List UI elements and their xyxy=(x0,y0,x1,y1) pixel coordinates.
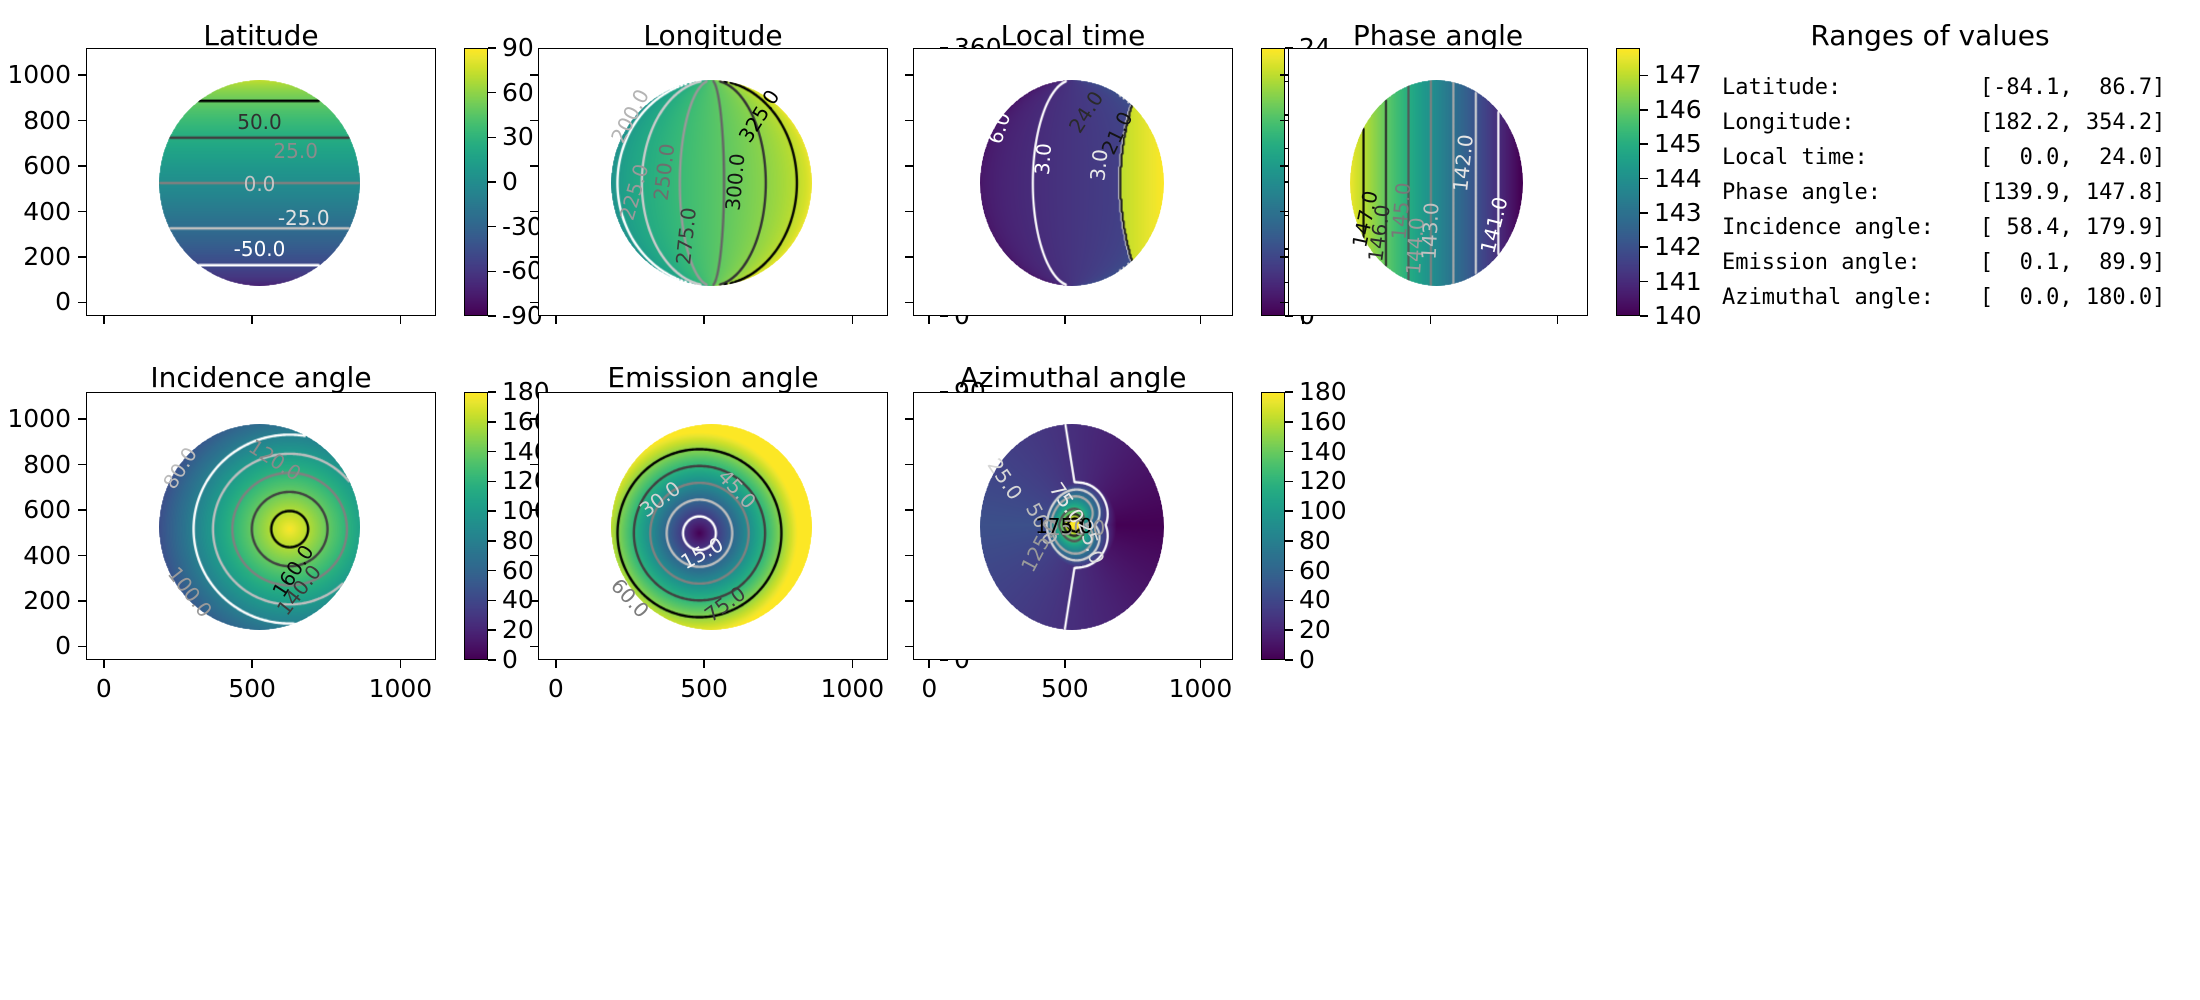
panel-title: Longitude xyxy=(538,20,888,52)
contour-label: 6.0 xyxy=(985,110,1014,146)
y-tick xyxy=(530,120,538,122)
colorbar-tick xyxy=(1285,659,1293,661)
colorbar xyxy=(916,392,940,660)
contour-label: 50.0 xyxy=(1022,500,1061,549)
x-tick xyxy=(555,660,557,668)
colorbar xyxy=(1261,48,1285,316)
contour-label: 24.0 xyxy=(1065,88,1106,136)
x-tick xyxy=(852,316,854,324)
colorbar-tick xyxy=(488,600,496,602)
colorbar-tick-label: 360 xyxy=(954,35,1002,60)
range-label: Emission angle: xyxy=(1722,251,1980,286)
colorbar-tick xyxy=(1640,75,1648,77)
colorbar xyxy=(464,392,488,660)
y-tick-label: 1000 xyxy=(0,62,71,87)
colorbar-tick xyxy=(488,421,496,423)
contour-label: 275.0 xyxy=(673,206,699,265)
y-tick xyxy=(905,211,913,213)
contour-label: 0.0 xyxy=(244,174,276,194)
x-tick xyxy=(103,660,105,668)
plot-area: 15.030.045.060.075.0 xyxy=(538,392,888,660)
colorbar-tick-label: 30 xyxy=(502,124,534,149)
colorbar-tick xyxy=(940,629,948,631)
colorbar-tick xyxy=(940,510,948,512)
y-tick-label: 800 xyxy=(0,108,71,133)
colorbar-tick-label: 21 xyxy=(1299,69,1331,94)
contour-label: 60.0 xyxy=(608,575,653,621)
colorbar-tick-label: 20 xyxy=(1299,617,1331,642)
colorbar-tick-label: 0 xyxy=(502,647,518,672)
colorbar-tick xyxy=(1285,540,1293,542)
panel-title: Emission angle xyxy=(538,362,888,394)
range-label: Azimuthal angle: xyxy=(1722,286,1980,321)
colorbar-tick xyxy=(1285,421,1293,423)
contour-label: 150.0 xyxy=(1048,518,1105,538)
y-tick-label: 400 xyxy=(0,543,71,568)
x-tick xyxy=(1200,316,1202,324)
colorbar-tick xyxy=(1285,148,1293,150)
x-tick-label: 1000 xyxy=(792,676,912,701)
y-tick xyxy=(530,165,538,167)
colorbar-tick-label: 120 xyxy=(954,214,1002,239)
y-tick xyxy=(78,120,86,122)
colorbar-tick-label: 0 xyxy=(954,647,970,672)
colorbar-tick-label: 50 xyxy=(954,498,986,523)
panel-title: Latitude xyxy=(86,20,436,52)
projected-disc xyxy=(611,424,812,630)
x-tick xyxy=(1302,316,1304,324)
colorbar-tick xyxy=(488,226,496,228)
x-tick xyxy=(852,660,854,668)
x-tick xyxy=(251,316,253,324)
contour-label: 146.0 xyxy=(1365,204,1393,263)
contour-label: 75.0 xyxy=(701,583,749,625)
contour-label: 175.0 xyxy=(1035,516,1092,536)
x-tick xyxy=(703,316,705,324)
colorbar-tick xyxy=(1640,178,1648,180)
y-tick-label: 400 xyxy=(0,199,71,224)
colorbar-tick xyxy=(488,315,496,317)
y-tick xyxy=(78,555,86,557)
y-tick xyxy=(530,418,538,420)
range-label: Phase angle: xyxy=(1722,181,1980,216)
y-tick-label: 800 xyxy=(0,452,71,477)
colorbar xyxy=(916,48,940,316)
contour-label: 144.0 xyxy=(1403,217,1427,276)
colorbar-tick-label: 0 xyxy=(954,303,970,328)
y-tick xyxy=(905,74,913,76)
contour-label: 100.0 xyxy=(165,563,216,620)
y-tick xyxy=(905,600,913,602)
y-tick xyxy=(78,165,86,167)
x-tick xyxy=(400,660,402,668)
y-tick xyxy=(905,165,913,167)
range-label: Latitude: xyxy=(1722,76,1980,111)
contour-label: 325.0 xyxy=(735,86,782,145)
y-tick xyxy=(78,256,86,258)
colorbar-tick-label: 6 xyxy=(1299,236,1315,261)
projected-disc xyxy=(159,80,360,286)
colorbar-tick-label: 60 xyxy=(954,258,986,283)
projected-disc xyxy=(159,424,360,630)
contour-label: 25.0 xyxy=(984,455,1025,503)
colorbar-tick-label: 80 xyxy=(502,528,534,553)
colorbar-tick-label: 60 xyxy=(502,558,534,583)
colorbar-tick xyxy=(940,181,948,183)
y-tick xyxy=(1280,165,1288,167)
colorbar-tick-label: 120 xyxy=(502,468,550,493)
y-tick xyxy=(905,555,913,557)
contour-label: 141.0 xyxy=(1478,195,1511,255)
colorbar-tick-label: 18 xyxy=(1299,102,1331,127)
y-tick-label: 200 xyxy=(0,244,71,269)
colorbar-tick xyxy=(488,451,496,453)
colorbar-tick xyxy=(1285,315,1293,317)
colorbar-tick xyxy=(1285,248,1293,250)
colorbar-tick xyxy=(488,570,496,572)
y-tick-label: 200 xyxy=(0,588,71,613)
y-tick xyxy=(1280,302,1288,304)
x-tick xyxy=(928,660,930,668)
colorbar-tick-label: 9 xyxy=(1299,203,1315,228)
x-tick xyxy=(1064,660,1066,668)
colorbar-tick xyxy=(1640,246,1648,248)
colorbar-tick-label: 30 xyxy=(954,558,986,583)
colorbar-tick-label: 180 xyxy=(1299,379,1347,404)
colorbar-tick xyxy=(488,629,496,631)
x-tick xyxy=(1064,316,1066,324)
y-tick xyxy=(530,646,538,648)
x-tick-label: 500 xyxy=(644,676,764,701)
colorbar-tick xyxy=(1285,451,1293,453)
y-tick xyxy=(530,509,538,511)
colorbar-tick-label: 70 xyxy=(954,439,986,464)
contour-label: -25.0 xyxy=(278,208,330,228)
x-tick-label: 500 xyxy=(192,676,312,701)
colorbar-tick xyxy=(1285,181,1293,183)
x-tick-label: 0 xyxy=(496,676,616,701)
colorbar-tick-label: 60 xyxy=(954,468,986,493)
colorbar-tick-label: 3 xyxy=(1299,270,1315,295)
contour-label: -50.0 xyxy=(234,239,286,259)
colorbar-tick xyxy=(940,481,948,483)
table-row: Incidence angle:[ 58.4, 179.9] xyxy=(1722,216,2165,251)
colorbar-tick xyxy=(488,137,496,139)
contour-label: 160.0 xyxy=(269,542,317,601)
y-tick xyxy=(78,302,86,304)
plot-area: 200.0225.0250.0275.0300.0325.0 xyxy=(538,48,888,316)
x-tick xyxy=(1200,660,1202,668)
y-tick xyxy=(530,74,538,76)
colorbar-tick xyxy=(1640,109,1648,111)
colorbar-tick xyxy=(1285,481,1293,483)
y-tick xyxy=(78,74,86,76)
y-tick xyxy=(78,600,86,602)
plot-area: 6.03.024.03.021.0 xyxy=(913,48,1233,316)
colorbar-tick xyxy=(940,451,948,453)
colorbar-tick-label: 80 xyxy=(1299,528,1331,553)
contour-label: 250.0 xyxy=(651,142,678,201)
colorbar-tick xyxy=(488,92,496,94)
contour-label: 75.0 xyxy=(1047,479,1088,527)
range-value: [182.2, 354.2] xyxy=(1980,111,2165,146)
contour-label: 300.0 xyxy=(722,153,747,212)
y-tick xyxy=(530,600,538,602)
table-row: Phase angle:[139.9, 147.8] xyxy=(1722,181,2165,216)
colorbar-tick-label: -90 xyxy=(502,303,543,328)
colorbar-tick xyxy=(488,481,496,483)
colorbar-tick xyxy=(1285,629,1293,631)
x-tick-label: 500 xyxy=(1005,676,1125,701)
table-row: Latitude:[-84.1, 86.7] xyxy=(1722,76,2165,111)
y-tick xyxy=(78,418,86,420)
colorbar-tick xyxy=(1285,391,1293,393)
colorbar-tick-label: 120 xyxy=(1299,468,1347,493)
colorbar-tick-label: 40 xyxy=(1299,587,1331,612)
colorbar-tick-label: 80 xyxy=(954,409,986,434)
colorbar-tick xyxy=(940,315,948,317)
colorbar-tick-label: 0 xyxy=(502,169,518,194)
contour-label: 140.0 xyxy=(273,561,324,618)
colorbar-tick-label: 24 xyxy=(1299,35,1331,60)
colorbar-tick xyxy=(940,47,948,49)
colorbar-tick-label: 100 xyxy=(1299,498,1347,523)
y-tick xyxy=(1280,74,1288,76)
contour-label: 25.0 xyxy=(1075,518,1108,567)
y-tick-label: 1000 xyxy=(0,406,71,431)
y-tick xyxy=(905,120,913,122)
y-tick xyxy=(1280,256,1288,258)
projected-disc xyxy=(1350,80,1523,286)
projected-disc xyxy=(611,80,812,286)
plot-area: 25.050.075.0125.0150.0175.025.0 xyxy=(913,392,1233,660)
colorbar-tick-label: 160 xyxy=(1299,409,1347,434)
colorbar-tick-label: -60 xyxy=(502,258,543,283)
colorbar-tick-label: -30 xyxy=(502,214,543,239)
colorbar-tick-label: 90 xyxy=(954,379,986,404)
range-value: [ 0.0, 180.0] xyxy=(1980,286,2165,321)
colorbar-tick xyxy=(1285,114,1293,116)
colorbar-tick xyxy=(940,659,948,661)
x-tick-label: 1000 xyxy=(340,676,460,701)
range-value: [-84.1, 86.7] xyxy=(1980,76,2165,111)
plot-area: 80.0100.0120.0140.0160.0 xyxy=(86,392,436,660)
colorbar-tick-label: 40 xyxy=(954,528,986,553)
colorbar-tick-label: 60 xyxy=(1299,558,1331,583)
table-row: Local time:[ 0.0, 24.0] xyxy=(1722,146,2165,181)
x-tick xyxy=(103,316,105,324)
x-tick xyxy=(1557,316,1559,324)
projected-disc xyxy=(980,424,1164,630)
colorbar-tick-label: 10 xyxy=(954,617,986,642)
colorbar-tick xyxy=(1285,510,1293,512)
plot-area: 50.025.00.0-25.0-50.0 xyxy=(86,48,436,316)
x-tick xyxy=(928,316,930,324)
contour-label: 45.0 xyxy=(714,466,759,512)
colorbar-tick xyxy=(488,391,496,393)
contour-label: 145.0 xyxy=(1389,181,1414,240)
colorbar-tick-label: 20 xyxy=(502,617,534,642)
panel-title: Phase angle xyxy=(1288,20,1588,52)
y-tick xyxy=(905,256,913,258)
range-label: Incidence angle: xyxy=(1722,216,1980,251)
colorbar-tick xyxy=(1640,281,1648,283)
figure-canvas: Latitude50.025.00.0-25.0-50.002004006008… xyxy=(0,0,2200,1000)
colorbar-tick-label: 40 xyxy=(502,587,534,612)
colorbar-tick-label: 20 xyxy=(954,587,986,612)
contour-label: 21.0 xyxy=(1098,108,1135,157)
table-row: Emission angle:[ 0.1, 89.9] xyxy=(1722,251,2165,286)
colorbar-tick-label: 160 xyxy=(502,409,550,434)
colorbar-tick xyxy=(488,181,496,183)
x-tick xyxy=(251,660,253,668)
range-value: [139.9, 147.8] xyxy=(1980,181,2165,216)
y-tick-label: 600 xyxy=(0,497,71,522)
y-tick xyxy=(530,555,538,557)
x-tick xyxy=(703,660,705,668)
colorbar xyxy=(464,48,488,316)
y-tick xyxy=(905,418,913,420)
y-tick xyxy=(530,464,538,466)
colorbar-tick xyxy=(488,510,496,512)
colorbar xyxy=(1261,392,1285,660)
y-tick xyxy=(905,302,913,304)
colorbar-tick-label: 180 xyxy=(954,169,1002,194)
contour-label: 147.0 xyxy=(1349,189,1380,249)
panel-title: Incidence angle xyxy=(86,362,436,394)
colorbar-tick xyxy=(940,137,948,139)
table-row: Longitude:[182.2, 354.2] xyxy=(1722,111,2165,146)
y-tick xyxy=(530,211,538,213)
colorbar-tick xyxy=(1285,215,1293,217)
colorbar-tick-label: 90 xyxy=(502,35,534,60)
x-tick-label: 1000 xyxy=(1140,676,1260,701)
range-value: [ 0.1, 89.9] xyxy=(1980,251,2165,286)
contour-label: 200.0 xyxy=(608,86,653,146)
contour-label: 142.0 xyxy=(1450,134,1476,193)
colorbar-tick xyxy=(1285,282,1293,284)
colorbar-tick xyxy=(1285,47,1293,49)
colorbar-tick xyxy=(940,570,948,572)
colorbar-tick xyxy=(488,659,496,661)
colorbar-tick xyxy=(488,47,496,49)
y-tick xyxy=(530,302,538,304)
colorbar-tick xyxy=(488,271,496,273)
colorbar-tick-label: 60 xyxy=(502,80,534,105)
y-tick xyxy=(1280,120,1288,122)
contour-label: 3.0 xyxy=(1032,143,1054,176)
colorbar-tick-label: 240 xyxy=(954,124,1002,149)
contour-label: 225.0 xyxy=(617,162,652,223)
range-label: Local time: xyxy=(1722,146,1980,181)
y-tick xyxy=(905,509,913,511)
colorbar-tick xyxy=(1640,143,1648,145)
contour-label: 30.0 xyxy=(636,478,684,521)
x-tick xyxy=(400,316,402,324)
panel-title: Azimuthal angle xyxy=(913,362,1233,394)
contour-label: 125.0 xyxy=(1018,515,1063,575)
colorbar-tick xyxy=(940,92,948,94)
colorbar-tick-label: 0 xyxy=(1299,647,1315,672)
colorbar-tick xyxy=(940,271,948,273)
x-tick-label: 0 xyxy=(44,676,164,701)
contour-label: 143.0 xyxy=(1419,202,1442,260)
colorbar-tick xyxy=(1640,315,1648,317)
colorbar-tick xyxy=(1285,81,1293,83)
range-value: [ 58.4, 179.9] xyxy=(1980,216,2165,251)
x-tick xyxy=(1430,316,1432,324)
contour-label: 15.0 xyxy=(678,533,727,572)
y-tick xyxy=(905,464,913,466)
contour-label: 120.0 xyxy=(245,436,304,484)
colorbar-tick-label: 300 xyxy=(954,80,1002,105)
colorbar-tick xyxy=(940,226,948,228)
colorbar-tick-label: 140 xyxy=(1299,439,1347,464)
colorbar-tick xyxy=(1640,212,1648,214)
panel-title: Local time xyxy=(913,20,1233,52)
colorbar-tick xyxy=(1285,570,1293,572)
colorbar-tick-label: 180 xyxy=(502,379,550,404)
y-tick xyxy=(78,211,86,213)
y-tick-label: 600 xyxy=(0,153,71,178)
colorbar-tick xyxy=(940,540,948,542)
colorbar-tick-label: 12 xyxy=(1299,169,1331,194)
ranges-of-values-panel: Ranges of valuesLatitude:[-84.1, 86.7]Lo… xyxy=(1660,0,2200,340)
colorbar-tick-label: 100 xyxy=(502,498,550,523)
colorbar-tick xyxy=(940,421,948,423)
colorbar-tick-label: 0 xyxy=(1299,303,1315,328)
ranges-title: Ranges of values xyxy=(1660,20,2200,52)
y-tick xyxy=(78,509,86,511)
colorbar-tick xyxy=(940,391,948,393)
ranges-table: Latitude:[-84.1, 86.7]Longitude:[182.2, … xyxy=(1722,76,2165,321)
contour-label: 50.0 xyxy=(237,112,282,132)
y-tick-label: 0 xyxy=(0,289,71,314)
projected-disc xyxy=(980,80,1164,286)
x-tick xyxy=(555,316,557,324)
y-tick-label: 0 xyxy=(0,633,71,658)
colorbar xyxy=(1616,48,1640,316)
table-row: Azimuthal angle:[ 0.0, 180.0] xyxy=(1722,286,2165,321)
colorbar-tick xyxy=(940,600,948,602)
contour-label: 80.0 xyxy=(160,444,201,492)
contour-label: 25.0 xyxy=(273,141,318,161)
contour-label: 3.0 xyxy=(1087,149,1110,183)
y-tick xyxy=(530,256,538,258)
range-label: Longitude: xyxy=(1722,111,1980,146)
colorbar-tick-label: 140 xyxy=(502,439,550,464)
y-tick xyxy=(78,464,86,466)
y-tick xyxy=(78,646,86,648)
y-tick xyxy=(1280,211,1288,213)
plot-area: 147.0146.0145.0144.0143.0142.0141.0 xyxy=(1288,48,1588,316)
colorbar-tick xyxy=(488,540,496,542)
colorbar-tick-label: 15 xyxy=(1299,136,1331,161)
colorbar-tick xyxy=(1285,600,1293,602)
range-value: [ 0.0, 24.0] xyxy=(1980,146,2165,181)
x-tick-label: 0 xyxy=(869,676,989,701)
y-tick xyxy=(905,646,913,648)
